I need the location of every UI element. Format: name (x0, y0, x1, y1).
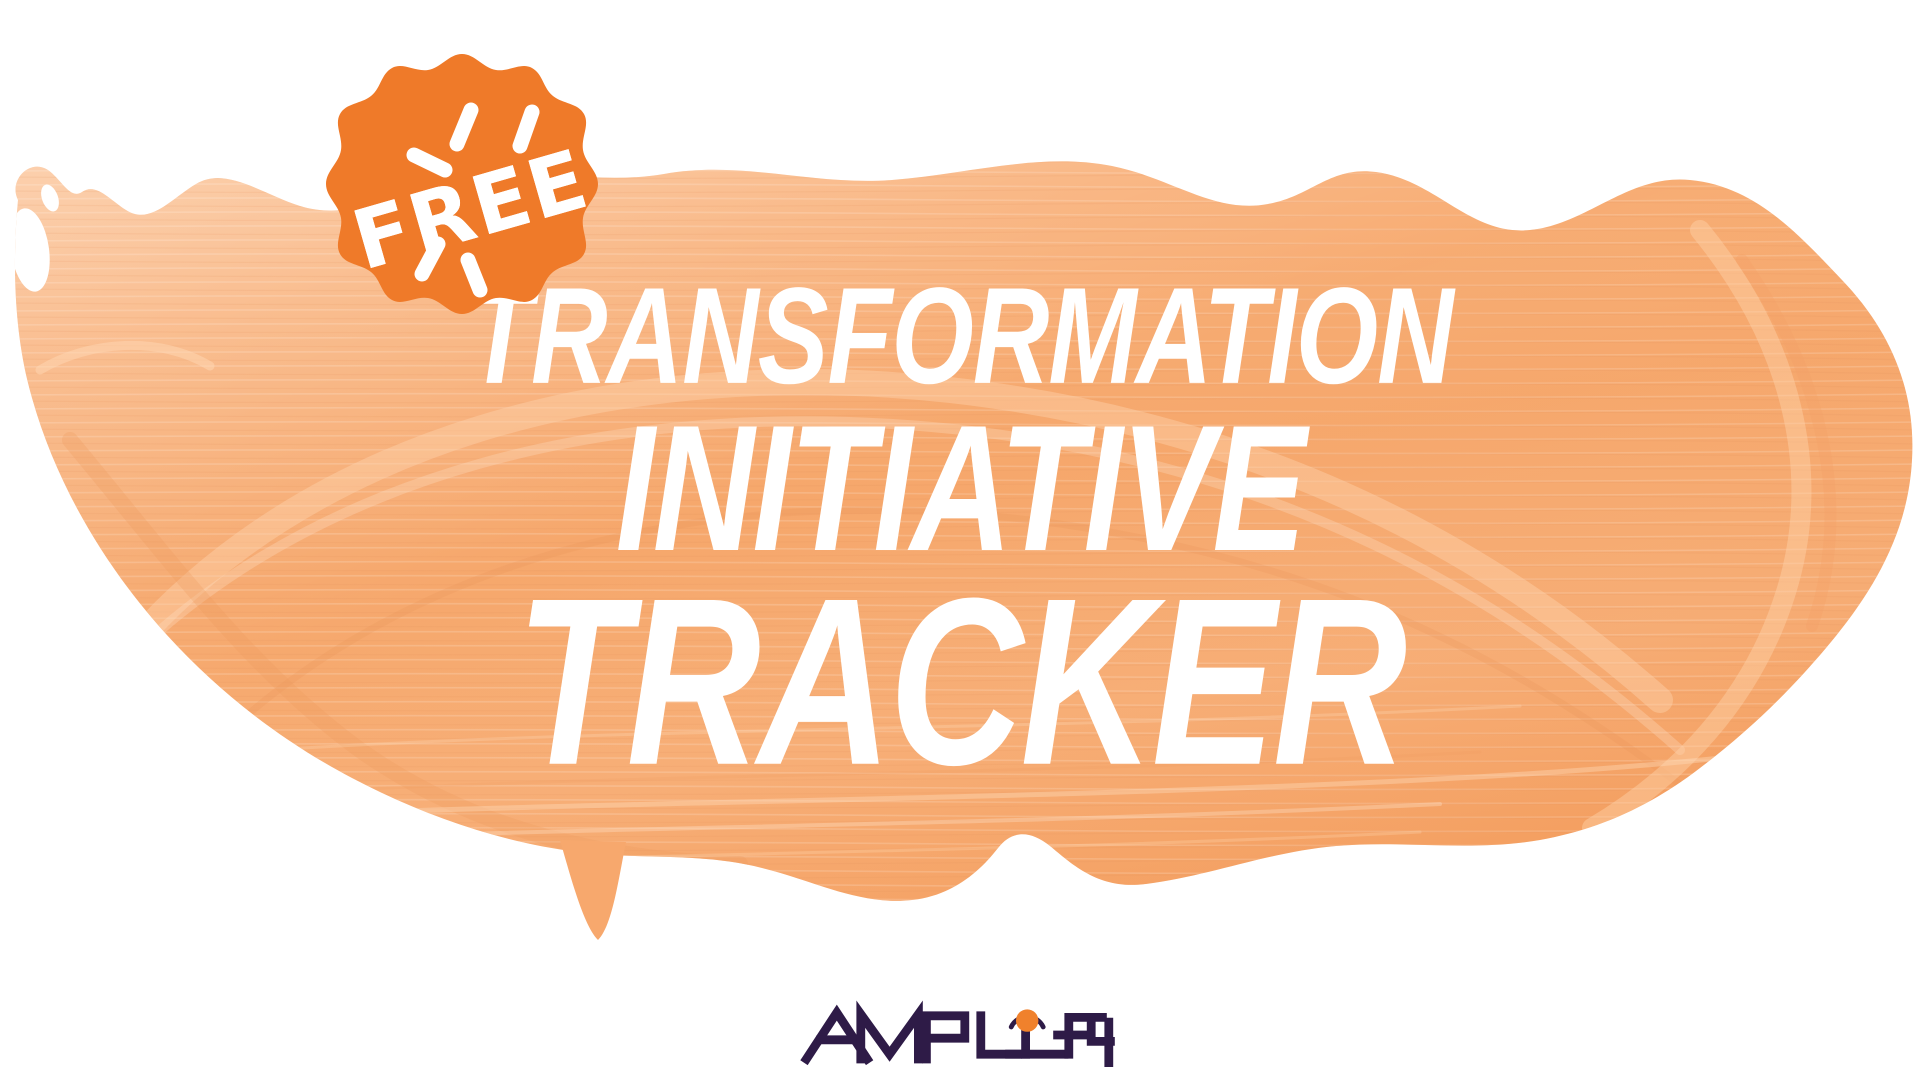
poster-canvas: FREE TRANSFORMATION INITIATIVE TRACKER (0, 0, 1920, 1080)
headline-line-2: INITIATIVE (0, 407, 1920, 572)
headline-line-1: TRANSFORMATION (0, 275, 1920, 401)
headline-block: TRANSFORMATION INITIATIVE TRACKER (0, 290, 1920, 768)
free-badge[interactable]: FREE (316, 48, 608, 340)
logo-dot-icon (1016, 1009, 1038, 1031)
amplify-logo-mark (795, 995, 1125, 1067)
headline-line-3: TRACKER (0, 573, 1920, 792)
paint-drip (560, 840, 626, 940)
amplify-logo (795, 995, 1125, 1067)
